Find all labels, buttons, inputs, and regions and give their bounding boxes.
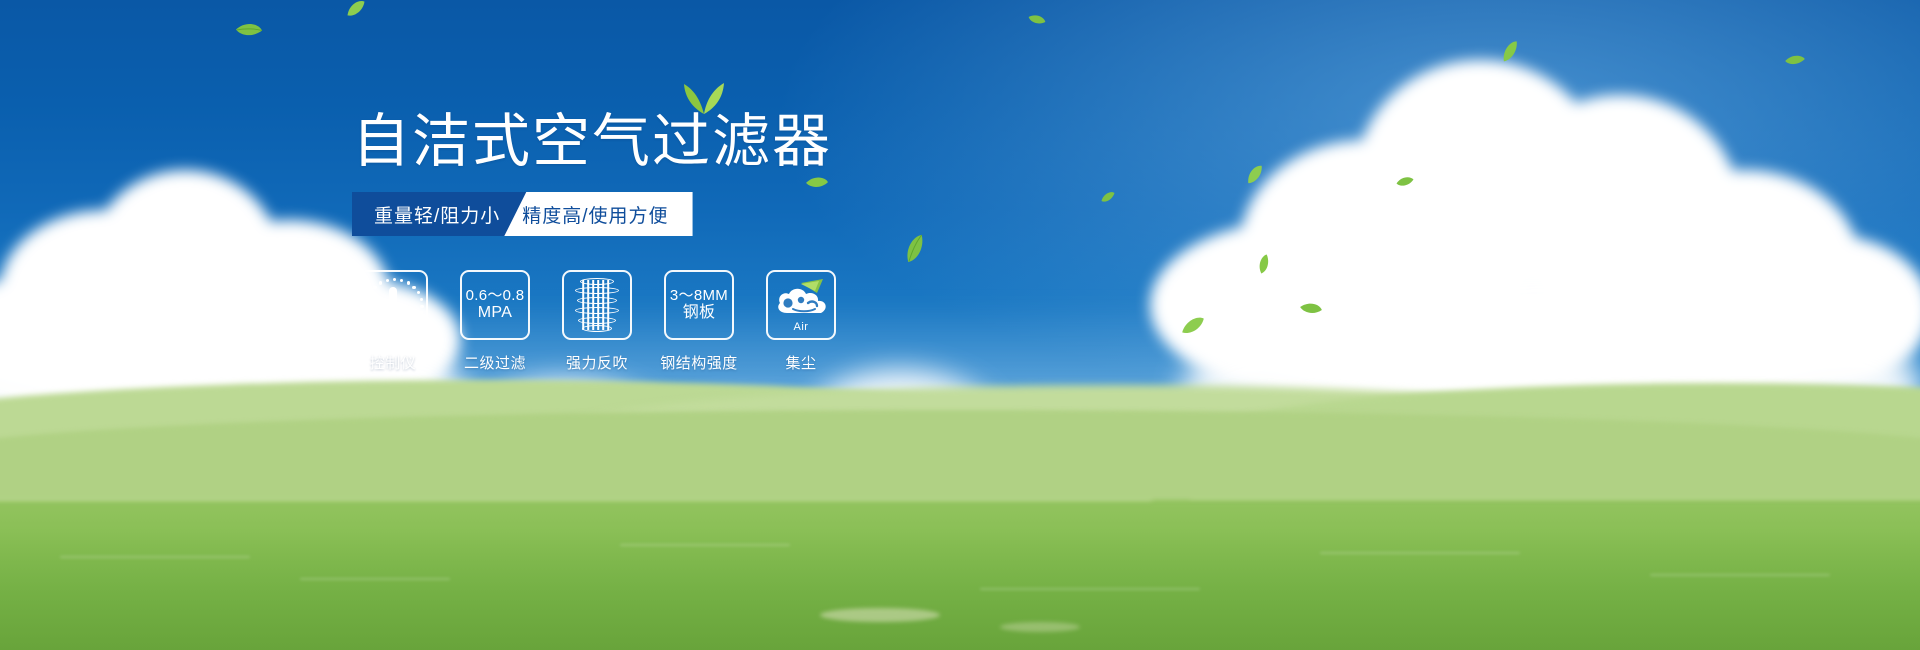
feature-item-dust-collection[interactable]: Air 集尘 xyxy=(765,270,837,373)
feature-item-secondary-filtration[interactable]: 0.6〜0.8 MPA 二级过滤 xyxy=(459,270,531,373)
feature-icon-row: NO OFF 控制仪 0.6〜0.8 MPA 二级过滤 xyxy=(357,270,837,373)
pressure-range: 0.6〜0.8 xyxy=(466,287,525,305)
feature-item-controller[interactable]: NO OFF 控制仪 xyxy=(357,270,429,373)
pressure-unit: MPA xyxy=(466,304,525,323)
feature-tabs: 重量轻/阻力小 精度高/使用方便 xyxy=(352,192,693,236)
feature-icon-box xyxy=(562,270,632,340)
feature-icon-box: 3〜8MM 钢板 xyxy=(664,270,734,340)
tab-label: 重量轻/阻力小 xyxy=(374,201,500,228)
feature-icon-box: 0.6〜0.8 MPA xyxy=(460,270,530,340)
air-cloud-icon: Air xyxy=(771,277,831,333)
feature-icon-box: NO OFF xyxy=(358,270,428,340)
air-label: Air xyxy=(771,321,831,333)
gauge-dial-icon: NO OFF xyxy=(362,274,424,336)
feature-item-steel-strength[interactable]: 3〜8MM 钢板 钢结构强度 xyxy=(663,270,735,373)
feature-icon-box: Air xyxy=(766,270,836,340)
tab-label: 精度高/使用方便 xyxy=(522,201,668,228)
feature-item-strong-blowback[interactable]: 强力反吹 xyxy=(561,270,633,373)
feature-label: 控制仪 xyxy=(370,352,417,373)
feature-label: 强力反吹 xyxy=(566,352,628,373)
gauge-label-off: OFF xyxy=(409,327,423,333)
feature-label: 钢结构强度 xyxy=(660,352,738,373)
feature-label: 二级过滤 xyxy=(464,352,526,373)
page-title: 自洁式空气过滤器 xyxy=(352,113,832,171)
banner-content: 自洁式空气过滤器 重量轻/阻力小 精度高/使用方便 xyxy=(0,0,1920,650)
steel-plate-text-icon: 3〜8MM 钢板 xyxy=(670,287,728,324)
title-block: 自洁式空气过滤器 xyxy=(352,113,832,171)
gauge-needle xyxy=(389,287,397,325)
feature-label: 集尘 xyxy=(785,352,816,373)
filter-cartridge-blowback-icon xyxy=(571,278,623,332)
pressure-text-icon: 0.6〜0.8 MPA xyxy=(466,287,525,324)
product-hero-banner: 自洁式空气过滤器 重量轻/阻力小 精度高/使用方便 xyxy=(0,0,1920,650)
tab-lightweight-low-resistance[interactable]: 重量轻/阻力小 xyxy=(352,192,526,236)
gauge-label-no: NO xyxy=(363,308,373,314)
steel-material: 钢板 xyxy=(670,304,728,323)
steel-thickness: 3〜8MM xyxy=(670,287,728,305)
title-leaf-icon xyxy=(682,81,726,120)
tab-high-precision-easy-use[interactable]: 精度高/使用方便 xyxy=(504,192,692,236)
